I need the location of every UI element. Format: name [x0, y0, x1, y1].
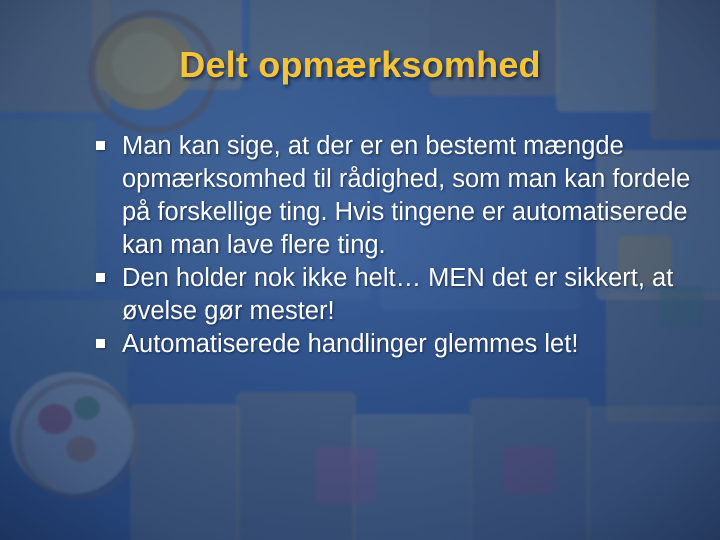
slide-body: Man kan sige, at der er en bestemt mængd… — [96, 130, 706, 361]
bullet-text: Man kan sige, at der er en bestemt mængd… — [122, 132, 690, 259]
bullet-item: Automatiserede handlinger glemmes let! — [96, 328, 706, 361]
square-bullet-icon — [96, 273, 105, 282]
bullet-item: Man kan sige, at der er en bestemt mængd… — [96, 130, 706, 262]
square-bullet-icon — [96, 141, 105, 150]
bullet-text: Automatiserede handlinger glemmes let! — [122, 330, 578, 358]
bullet-item: Den holder nok ikke helt… MEN det er sik… — [96, 262, 706, 328]
square-bullet-icon — [96, 339, 105, 348]
slide-title: Delt opmærksomhed — [0, 44, 720, 86]
bullet-text: Den holder nok ikke helt… MEN det er sik… — [122, 264, 673, 325]
slide: Delt opmærksomhed Man kan sige, at der e… — [0, 0, 720, 540]
